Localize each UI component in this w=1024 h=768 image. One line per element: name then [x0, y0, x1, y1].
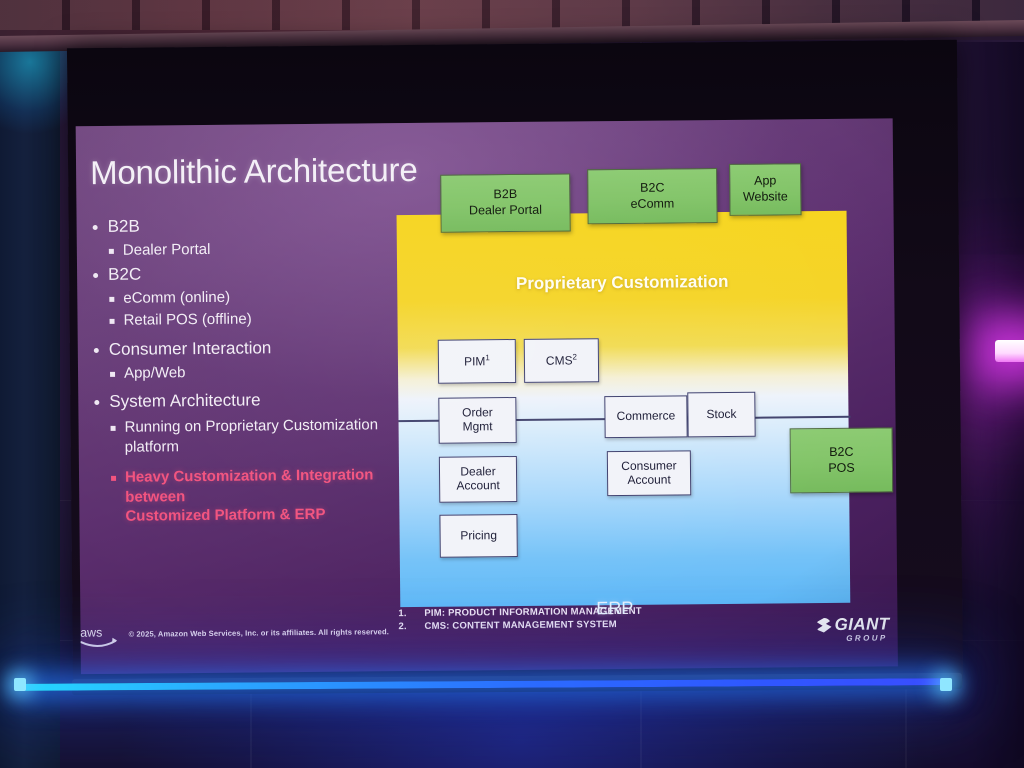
module-box-cms[interactable]: CMS2 — [524, 338, 599, 383]
bullet-square-icon — [111, 476, 116, 481]
giant-swoosh-icon — [817, 617, 832, 632]
bullet-square-icon — [110, 372, 115, 377]
channel-label: App — [754, 174, 776, 188]
channel-box-b2c-ecomm[interactable]: B2CeComm — [587, 168, 718, 224]
giant-group-logo: GIANT GROUP — [817, 614, 890, 643]
channel-label: Dealer Portal — [469, 203, 542, 218]
architecture-diagram: Proprietary Customization ERP PIM1 CMS2 … — [397, 211, 851, 607]
bullet-heavy-customization: Heavy Customization & Integration betwee… — [89, 465, 410, 527]
module-box-dealer-account[interactable]: DealerAccount — [439, 456, 517, 503]
channel-label: eComm — [630, 196, 674, 210]
connector-line — [755, 416, 850, 419]
svg-text:aws: aws — [80, 626, 102, 640]
module-box-pricing[interactable]: Pricing — [439, 514, 517, 558]
bullet-label: App/Web — [124, 363, 186, 383]
erp-label: ERP — [596, 598, 633, 619]
channel-box-b2c-pos[interactable]: B2CPOS — [790, 427, 894, 493]
bullet-b2b: B2B — [87, 213, 407, 238]
bullet-label: eComm (online) — [123, 287, 230, 308]
bullet-ecomm: eComm (online) — [87, 286, 407, 309]
module-superscript: 1 — [485, 353, 490, 362]
module-label: Dealer — [460, 464, 495, 478]
bullet-dot-icon — [94, 400, 99, 405]
bullet-label: B2C — [108, 263, 141, 285]
footnote-cms: 2. CMS: CONTENT MANAGEMENT SYSTEM — [398, 619, 642, 632]
giant-logo-sub: GROUP — [846, 633, 887, 642]
bullet-square-icon — [109, 249, 114, 254]
module-box-commerce[interactable]: Commerce — [604, 395, 687, 438]
bullet-label: System Architecture — [109, 390, 260, 414]
module-label: Mgmt — [463, 419, 493, 433]
module-label: Stock — [706, 407, 736, 421]
bullet-dot-icon — [93, 273, 98, 278]
room-scene: Monolithic Architecture B2B Dealer Porta… — [0, 0, 1024, 768]
copyright-text: © 2025, Amazon Web Services, Inc. or its… — [129, 627, 389, 638]
bullet-dot-icon — [94, 348, 99, 353]
footnote-number: 1. — [398, 608, 424, 619]
channel-box-b2b-dealer-portal[interactable]: B2BDealer Portal — [440, 173, 571, 232]
bullet-label: Running on Proprietary Customization pla… — [124, 415, 408, 457]
channel-box-app-website[interactable]: AppWebsite — [729, 163, 801, 216]
module-label: Consumer — [621, 458, 676, 473]
bullet-label: B2B — [108, 216, 140, 238]
bullet-dot-icon — [93, 225, 98, 230]
bullet-retail-pos: Retail POS (offline) — [87, 308, 407, 331]
channel-label: B2C — [829, 445, 853, 459]
slide-canvas: Monolithic Architecture B2B Dealer Porta… — [76, 118, 898, 674]
module-box-pim[interactable]: PIM1 — [438, 339, 516, 384]
bullet-app-web: App/Web — [88, 361, 408, 384]
module-superscript: 2 — [572, 352, 577, 361]
module-label: PIM — [464, 354, 485, 368]
bullet-square-icon — [111, 426, 116, 431]
bullet-system-architecture: System Architecture — [88, 388, 408, 413]
bullet-b2c: B2C — [87, 261, 407, 286]
module-label: Order — [462, 405, 493, 419]
slide-title: Monolithic Architecture — [90, 151, 418, 192]
module-label: Account — [456, 478, 499, 492]
bullet-running-platform: Running on Proprietary Customization pla… — [88, 415, 408, 457]
led-endcap-left — [14, 678, 26, 691]
module-label: Pricing — [460, 529, 497, 543]
bullet-consumer-interaction: Consumer Interaction — [88, 336, 408, 361]
module-box-order-mgmt[interactable]: OrderMgmt — [438, 397, 516, 444]
footnote-number: 2. — [398, 621, 424, 632]
diagram-title: Proprietary Customization — [397, 271, 847, 295]
projection-screen: Monolithic Architecture B2B Dealer Porta… — [67, 40, 963, 694]
bullet-square-icon — [109, 297, 114, 302]
bullet-dealer-portal: Dealer Portal — [87, 238, 407, 261]
bullet-list: B2B Dealer Portal B2C eComm (online) Ret… — [87, 213, 410, 530]
connector-line — [517, 418, 605, 420]
channel-label: POS — [828, 460, 855, 474]
magenta-light-fixture — [995, 340, 1024, 362]
module-label: Commerce — [617, 410, 676, 424]
channel-label: B2C — [640, 180, 664, 194]
bullet-square-icon — [110, 319, 115, 324]
module-label: Account — [627, 472, 670, 486]
module-label: CMS — [546, 354, 573, 368]
channel-label: B2B — [493, 187, 517, 201]
channel-label: Website — [743, 189, 788, 203]
bullet-label: Consumer Interaction — [109, 337, 272, 361]
module-box-consumer-account[interactable]: ConsumerAccount — [607, 450, 691, 496]
giant-logo-text: GIANT — [835, 614, 890, 635]
connector-line — [399, 420, 439, 422]
module-box-stock[interactable]: Stock — [687, 392, 755, 438]
footnote-text: CMS: CONTENT MANAGEMENT SYSTEM — [424, 619, 616, 632]
bullet-label: Dealer Portal — [123, 240, 211, 260]
bullet-label: Heavy Customization & Integration betwee… — [125, 465, 410, 526]
aws-logo-icon: aws — [76, 622, 122, 652]
led-endcap-right — [940, 678, 952, 691]
bullet-label: Retail POS (offline) — [123, 310, 251, 331]
